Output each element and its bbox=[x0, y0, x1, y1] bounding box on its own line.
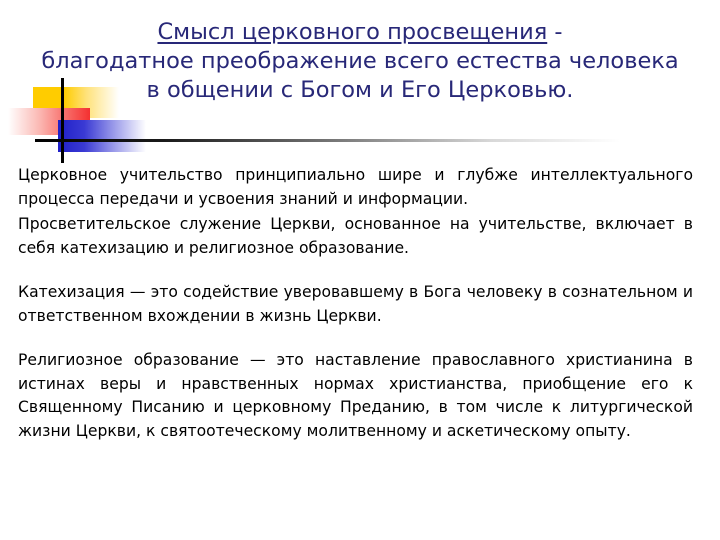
title-line-1-tail: - bbox=[547, 19, 562, 45]
slide-body: Церковное учительство принципиально шире… bbox=[18, 164, 693, 443]
title-line-1: Смысл церковного просвещения - bbox=[14, 18, 706, 47]
slide-canvas: Смысл церковного просвещения - благодатн… bbox=[0, 0, 720, 540]
body-paragraph-3: Катехизация — это содействие уверовавшем… bbox=[18, 281, 693, 328]
title-line-1-underlined: Смысл церковного просвещения bbox=[157, 19, 547, 45]
body-paragraph-2: Просветительское служение Церкви, основа… bbox=[18, 213, 693, 260]
title-line-2: благодатное преображение всего естества … bbox=[14, 47, 706, 76]
title-line-3: в общении с Богом и Его Церковью. bbox=[14, 76, 706, 105]
body-paragraph-1: Церковное учительство принципиально шире… bbox=[18, 164, 693, 211]
slide-title: Смысл церковного просвещения - благодатн… bbox=[14, 18, 706, 105]
red-block-icon bbox=[8, 108, 90, 135]
horizontal-rule-icon bbox=[35, 139, 620, 142]
blue-block-icon bbox=[58, 120, 146, 152]
body-paragraph-4: Религиозное образование — это наставлени… bbox=[18, 349, 693, 443]
